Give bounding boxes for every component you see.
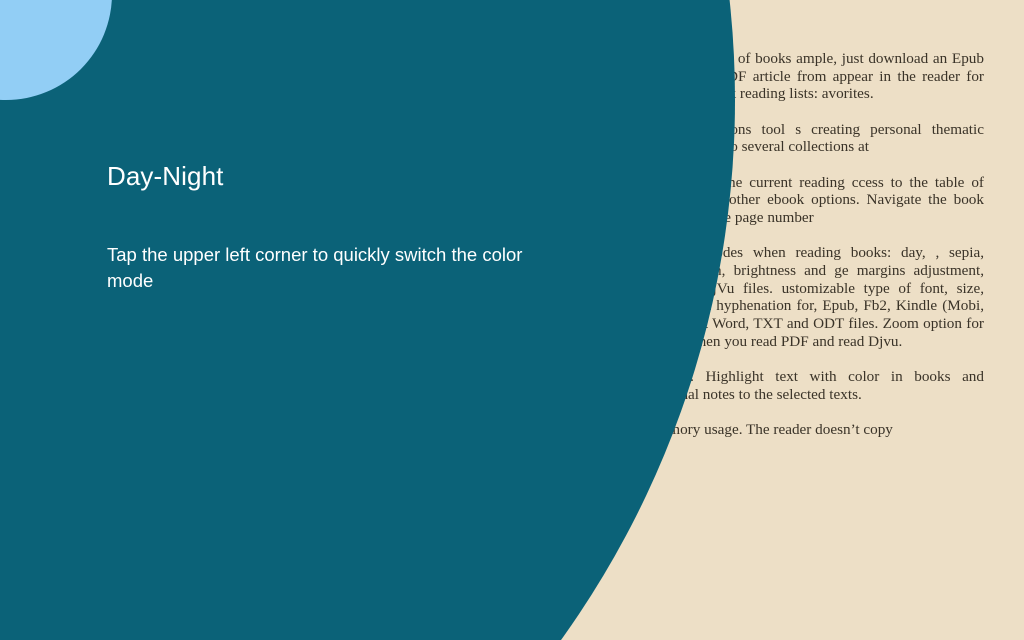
page-paragraph: ing settings. Color modes when reading b… (548, 244, 984, 350)
page-indicator: 1 of 2 (0, 612, 1024, 624)
page-paragraph: hrough a book. Saving the current readin… (548, 174, 984, 227)
page-paragraph: Quotes and notes. Highlight text with co… (548, 368, 984, 403)
page-paragraph: our library. Auto-detection of books amp… (548, 50, 984, 103)
page-paragraph: okshelves). The Collections tool s creat… (548, 121, 984, 156)
page-paragraph: Economized memory usage. The reader does… (548, 421, 984, 439)
coach-mark-title: Day-Night (107, 160, 577, 192)
reader-page: our library. Auto-detection of books amp… (0, 0, 1024, 640)
app-screen: our library. Auto-detection of books amp… (0, 0, 1024, 640)
coach-mark-text-block: Day-Night Tap the upper left corner to q… (107, 160, 577, 294)
page-text-column: our library. Auto-detection of books amp… (548, 50, 984, 456)
coach-mark-body: Tap the upper left corner to quickly swi… (107, 242, 569, 294)
